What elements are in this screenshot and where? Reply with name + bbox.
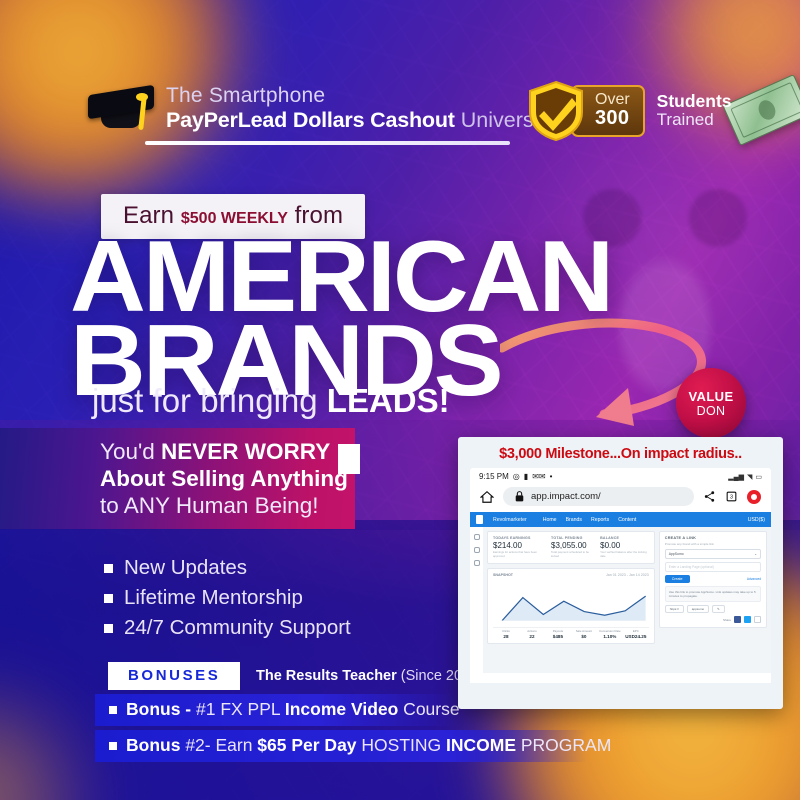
brand-line-1: The Smartphone xyxy=(166,84,555,108)
bonus-1-text: Bonus - #1 FX PPL Income Video Course xyxy=(126,699,460,720)
browser-url-bar[interactable]: app.impact.com/ 3 xyxy=(470,483,771,512)
brand-select[interactable]: AppSumo ⌄ xyxy=(665,549,761,559)
stat-sub: Total payment scheduled to be locked xyxy=(551,551,594,558)
brand-header: The Smartphone PayPerLead Dollars Cashou… xyxy=(88,84,555,132)
facebook-icon[interactable] xyxy=(734,616,741,623)
currency-selector[interactable]: USD($) xyxy=(748,517,765,523)
bonus-2-tail-light: PROGRAM xyxy=(516,735,611,755)
create-link-title: CREATE A LINK xyxy=(665,536,761,540)
shield-check-icon xyxy=(527,80,585,142)
create-button[interactable]: Create xyxy=(665,575,690,583)
snapshot-title: SNAPSHOT xyxy=(493,573,513,577)
signal-icon: ▂▄▆ xyxy=(728,473,744,481)
copy-icon[interactable] xyxy=(754,616,761,623)
dot-icon: • xyxy=(550,472,553,481)
stat-balance: BALANCE $0.00 Your verified balance afte… xyxy=(600,536,649,559)
feature-label: 24/7 Community Support xyxy=(124,616,351,640)
url-text: app.impact.com/ xyxy=(531,491,601,502)
create-link-note: Use this link to promote AppSumo. Link u… xyxy=(665,586,761,602)
home-icon[interactable] xyxy=(480,490,494,504)
brand-underline xyxy=(145,141,510,145)
metric-key: Payouts xyxy=(545,630,571,633)
credit-bold: The Results Teacher xyxy=(256,668,397,684)
landing-page-input[interactable]: Enter a Landing Page (optional) xyxy=(665,562,761,572)
bonus-1-mid-bold: Income Video xyxy=(285,699,398,719)
stat-label: TOTAL PENDING xyxy=(551,536,594,540)
phone-status-bar: 9:15 PM ◎ ▮ ✉✉ • ▂▄▆ ◥ ▭ xyxy=(470,468,771,483)
proof-screenshot-card: $3,000 Milestone...On impact radius.. 9:… xyxy=(458,437,783,709)
bullet-square-icon xyxy=(109,706,117,714)
subline-light: just for bringing xyxy=(92,382,327,419)
create-link-subtitle: Promote any brand with a simple link xyxy=(665,542,761,546)
bonuses-tag: BONUSES xyxy=(108,662,240,690)
nav-item-reports[interactable]: Reports xyxy=(591,517,609,523)
page-title: AMERICAN BRANDS xyxy=(70,236,590,404)
bonus-1-prefix: Bonus - xyxy=(126,699,196,719)
stats-card: TODAYS EARNINGS $214.00 Earnings for act… xyxy=(487,531,655,564)
bell-icon[interactable] xyxy=(474,547,480,553)
plaque-over-label: Over xyxy=(595,92,630,108)
value-badge[interactable]: VALUE DON xyxy=(676,368,746,438)
dashboard-brand: Revolmarketer xyxy=(493,517,527,523)
stat-total-pending: TOTAL PENDING $3,055.00 Total payment sc… xyxy=(551,536,594,559)
metric-value: $485 xyxy=(545,634,571,639)
advanced-link[interactable]: Advanced xyxy=(747,577,761,581)
promise-line-1-bold: NEVER WORRY xyxy=(161,439,330,464)
list-item: Lifetime Mentorship xyxy=(104,586,351,610)
document-icon: ▮ xyxy=(524,472,528,481)
metric-epc: EPCUSD24.25 xyxy=(623,630,649,639)
snapshot-card: SNAPSHOT Jan 01 2023 - Jan 14 2023 xyxy=(487,568,655,644)
metric-value: $0 xyxy=(571,634,597,639)
wifi-icon: ◥ xyxy=(747,473,752,481)
tabs-icon[interactable]: 3 xyxy=(725,490,738,503)
url-input[interactable]: app.impact.com/ xyxy=(503,487,694,506)
snapshot-date-range[interactable]: Jan 01 2023 - Jan 14 2023 xyxy=(606,573,649,577)
search-icon[interactable] xyxy=(474,534,480,540)
trained-label: Trained xyxy=(657,111,732,129)
status-time: 9:15 PM xyxy=(479,472,509,481)
hero-subline: just for bringing LEADS! xyxy=(92,382,450,420)
link-icon[interactable] xyxy=(474,560,480,566)
students-trained-badge: Over 300 Students Trained xyxy=(527,80,732,142)
bonus-2-mid-bold: $65 Per Day xyxy=(257,735,356,755)
bonus-2-suffix: HOSTING xyxy=(357,735,446,755)
bullet-square-icon xyxy=(104,564,113,573)
record-icon[interactable] xyxy=(747,490,761,504)
bonuses-tag-label: BONUSES xyxy=(128,667,220,684)
metric-key: Sale Amount xyxy=(571,630,597,633)
metric-key: Actions xyxy=(519,630,545,633)
bullet-square-icon xyxy=(104,624,113,633)
bonus-1-suffix: Course xyxy=(398,699,459,719)
chevron-down-icon: ⌄ xyxy=(754,552,757,556)
impact-logo-icon xyxy=(476,515,483,524)
domain-value: appsumo xyxy=(687,605,709,613)
bonus-1-mid-light: #1 FX PPL xyxy=(196,699,285,719)
bullet-square-icon xyxy=(104,594,113,603)
promise-line-1-light: You'd xyxy=(100,439,161,464)
feature-label: New Updates xyxy=(124,556,247,580)
stat-sub: Earnings for actions that have been appr… xyxy=(493,551,545,558)
twitter-icon[interactable] xyxy=(744,616,751,623)
nav-item-brands[interactable]: Brands xyxy=(566,517,582,523)
plaque-count: 300 xyxy=(595,108,630,128)
credit-line: The Results Teacher (Since 2014) xyxy=(256,668,483,684)
feature-label: Lifetime Mentorship xyxy=(124,586,303,610)
metric-sale-amount: Sale Amount$0 xyxy=(571,630,597,639)
stat-label: TODAYS EARNINGS xyxy=(493,536,545,540)
subline-bold: LEADS! xyxy=(327,382,450,419)
brand-line-2: PayPerLead Dollars Cashout University xyxy=(166,108,555,133)
metric-value: USD24.25 xyxy=(623,634,649,639)
metric-payouts: Payouts$485 xyxy=(545,630,571,639)
nav-item-home[interactable]: Home xyxy=(543,517,557,523)
graduation-cap-icon xyxy=(88,84,154,130)
promise-line-3: to ANY Human Being! xyxy=(100,492,348,519)
metric-clicks: Clicks28 xyxy=(493,630,519,639)
metric-value: 28 xyxy=(493,634,519,639)
share-label: Share xyxy=(723,618,731,622)
battery-icon: ▭ xyxy=(755,473,762,481)
list-item: 24/7 Community Support xyxy=(104,616,351,640)
bonus-item-2: Bonus #2- Earn $65 Per Day HOSTING INCOM… xyxy=(95,730,587,762)
stat-todays-earnings: TODAYS EARNINGS $214.00 Earnings for act… xyxy=(493,536,545,559)
stat-value: $0.00 xyxy=(600,541,649,550)
metric-key: Clicks xyxy=(493,630,519,633)
lock-icon xyxy=(513,490,526,503)
value-badge-line-1: VALUE xyxy=(688,389,733,404)
metric-conversion-rate: Conversion Rate1.10% xyxy=(597,630,623,639)
bonus-2-mid-light: #2- Earn xyxy=(185,735,257,755)
nav-item-content[interactable]: Content xyxy=(618,517,636,523)
metric-actions: Actions22 xyxy=(519,630,545,639)
camera-icon: ◎ xyxy=(513,472,520,481)
brand-name-bold: PayPerLead Dollars Cashout xyxy=(166,108,455,132)
edit-icon[interactable]: ✎ xyxy=(712,605,725,613)
stat-value: $3,055.00 xyxy=(551,541,594,550)
students-label: Students xyxy=(657,92,732,111)
students-trained-text: Students Trained xyxy=(657,92,732,129)
poster-canvas: The Smartphone PayPerLead Dollars Cashou… xyxy=(0,0,800,800)
feature-list: New Updates Lifetime Mentorship 24/7 Com… xyxy=(104,556,351,646)
metric-key: EPC xyxy=(623,630,649,633)
snapshot-metrics: Clicks28 Actions22 Payouts$485 Sale Amou… xyxy=(493,627,649,639)
metric-key: Conversion Rate xyxy=(597,630,623,633)
stat-value: $214.00 xyxy=(493,541,545,550)
dashboard-navbar: Revolmarketer Home Brands Reports Conten… xyxy=(470,512,771,527)
stat-label: BALANCE xyxy=(600,536,649,540)
promise-panel: You'd NEVER WORRY About Selling Anything… xyxy=(0,428,355,529)
bonus-item-1: Bonus - #1 FX PPL Income Video Course xyxy=(95,694,455,726)
dashboard-sidebar-rail xyxy=(470,527,483,673)
bonus-2-tail-bold: INCOME xyxy=(446,735,516,755)
metric-value: 22 xyxy=(519,634,545,639)
promise-line-1: You'd NEVER WORRY xyxy=(100,438,348,465)
dashboard-body: TODAYS EARNINGS $214.00 Earnings for act… xyxy=(470,527,771,673)
mail-icon: ✉✉ xyxy=(532,472,545,481)
bonus-2-text: Bonus #2- Earn $65 Per Day HOSTING INCOM… xyxy=(126,735,611,756)
phone-browser: 9:15 PM ◎ ▮ ✉✉ • ▂▄▆ ◥ ▭ xyxy=(470,468,771,683)
list-item: New Updates xyxy=(104,556,351,580)
bullet-square-icon xyxy=(109,742,117,750)
protocol-select[interactable]: https:// xyxy=(665,605,684,613)
stat-sub: Your verified balance after the locking … xyxy=(600,551,649,558)
panel-square-accent xyxy=(338,444,360,474)
promise-line-2: About Selling Anything xyxy=(100,465,348,492)
screenshot-caption: $3,000 Milestone...On impact radius.. xyxy=(458,437,783,468)
bonus-2-prefix: Bonus xyxy=(126,735,185,755)
brand-select-value: AppSumo xyxy=(669,552,684,556)
metric-value: 1.10% xyxy=(597,634,623,639)
value-badge-line-2: DON xyxy=(697,404,726,418)
svg-text:3: 3 xyxy=(730,495,733,501)
share-icon[interactable] xyxy=(703,490,716,503)
snapshot-chart xyxy=(493,579,649,625)
create-link-card: CREATE A LINK Promote any brand with a s… xyxy=(659,531,767,628)
